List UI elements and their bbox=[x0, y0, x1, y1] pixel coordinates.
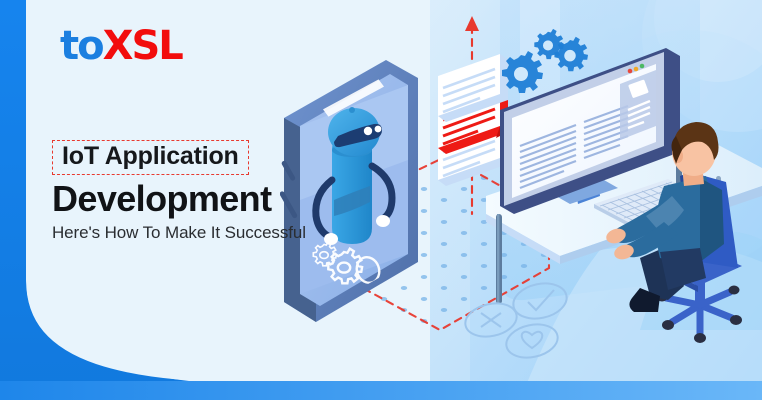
page-title: Development bbox=[52, 181, 302, 217]
subtitle: Here's How To Make It Successful bbox=[52, 224, 302, 243]
logo-text-blue: to bbox=[60, 23, 103, 69]
logo-text-red: XSL bbox=[103, 23, 182, 69]
tagline: IoT Application bbox=[52, 140, 249, 175]
document-stack bbox=[438, 54, 508, 186]
headline-block: IoT Application Development Here's How T… bbox=[52, 140, 302, 242]
logo[interactable]: toXSL bbox=[60, 26, 182, 66]
bottom-accent-bar bbox=[0, 381, 762, 400]
banner-root: toXSL IoT Application Development Here's… bbox=[0, 0, 762, 400]
